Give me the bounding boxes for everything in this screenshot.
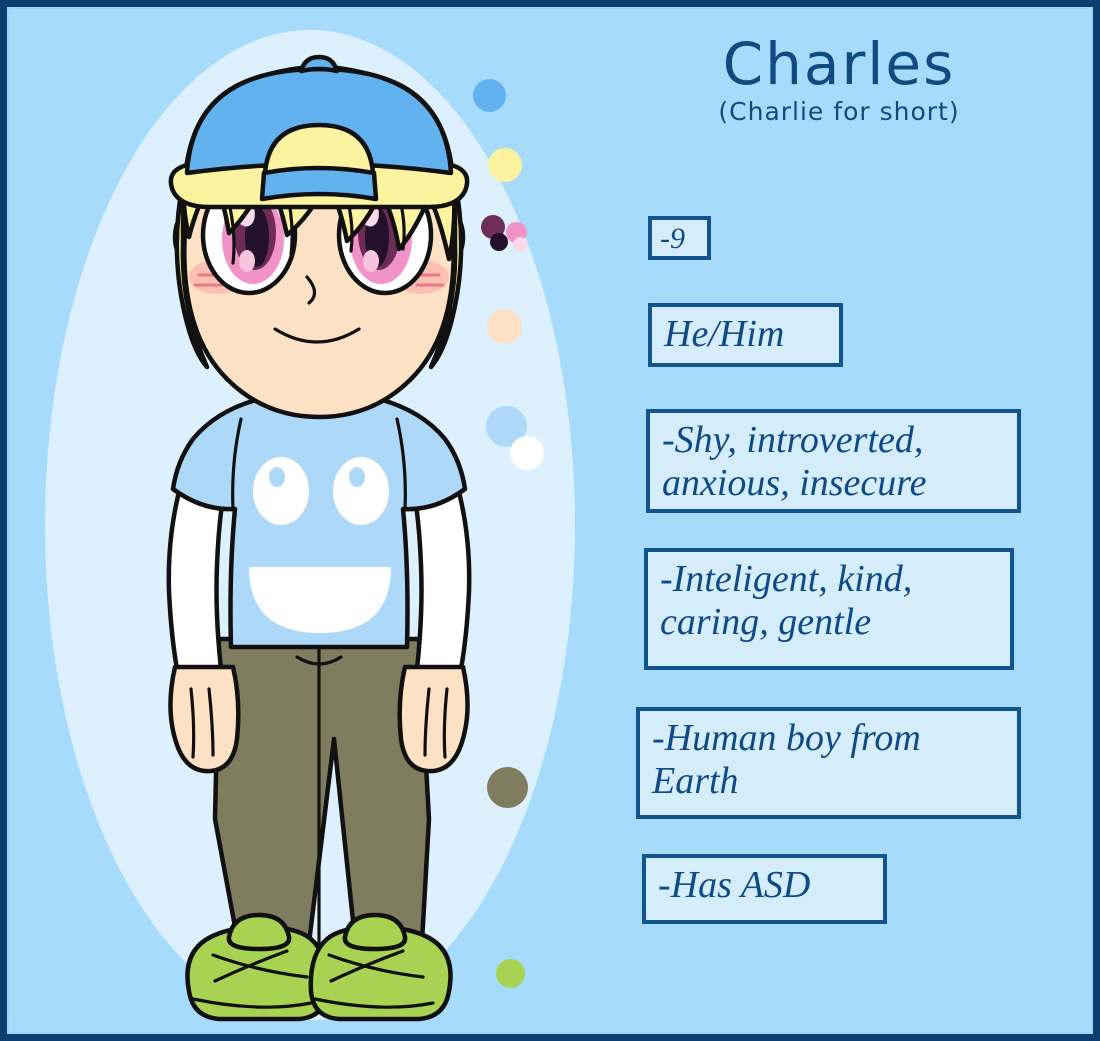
character-name: Charles	[629, 35, 1049, 93]
info-box-asd: -Has ASD	[642, 854, 887, 924]
info-box-traits-2: -Inteligent, kind, caring, gentle	[644, 548, 1014, 670]
sheet-canvas: .ln { stroke:#111111; stroke-width:4.5; …	[9, 9, 1091, 1032]
character-illustration: .ln { stroke:#111111; stroke-width:4.5; …	[129, 39, 509, 1032]
info-box-pronouns: He/Him	[648, 303, 843, 367]
character-nickname: (Charlie for short)	[629, 97, 1049, 126]
info-box-origin: -Human boy from Earth	[636, 707, 1021, 819]
palette-swatch-cap-blue	[473, 79, 506, 112]
palette-swatch-pants-olive	[487, 767, 528, 808]
info-box-age: -9	[648, 216, 711, 260]
palette-swatch-eye-pupil	[490, 233, 508, 251]
name-block: Charles (Charlie for short)	[629, 35, 1049, 126]
palette-swatch-shoes-green	[496, 959, 525, 988]
palette-swatch-skin	[487, 309, 522, 344]
palette-swatch-shirt-white	[510, 436, 544, 470]
character-reference-sheet: .ln { stroke:#111111; stroke-width:4.5; …	[0, 0, 1100, 1041]
pants	[215, 639, 429, 959]
info-box-traits-1: -Shy, introverted, anxious, insecure	[646, 409, 1021, 513]
baseball-cap	[171, 57, 467, 207]
palette-swatch-hair-blonde	[488, 148, 522, 182]
palette-swatch-eye-highlight	[513, 237, 528, 252]
